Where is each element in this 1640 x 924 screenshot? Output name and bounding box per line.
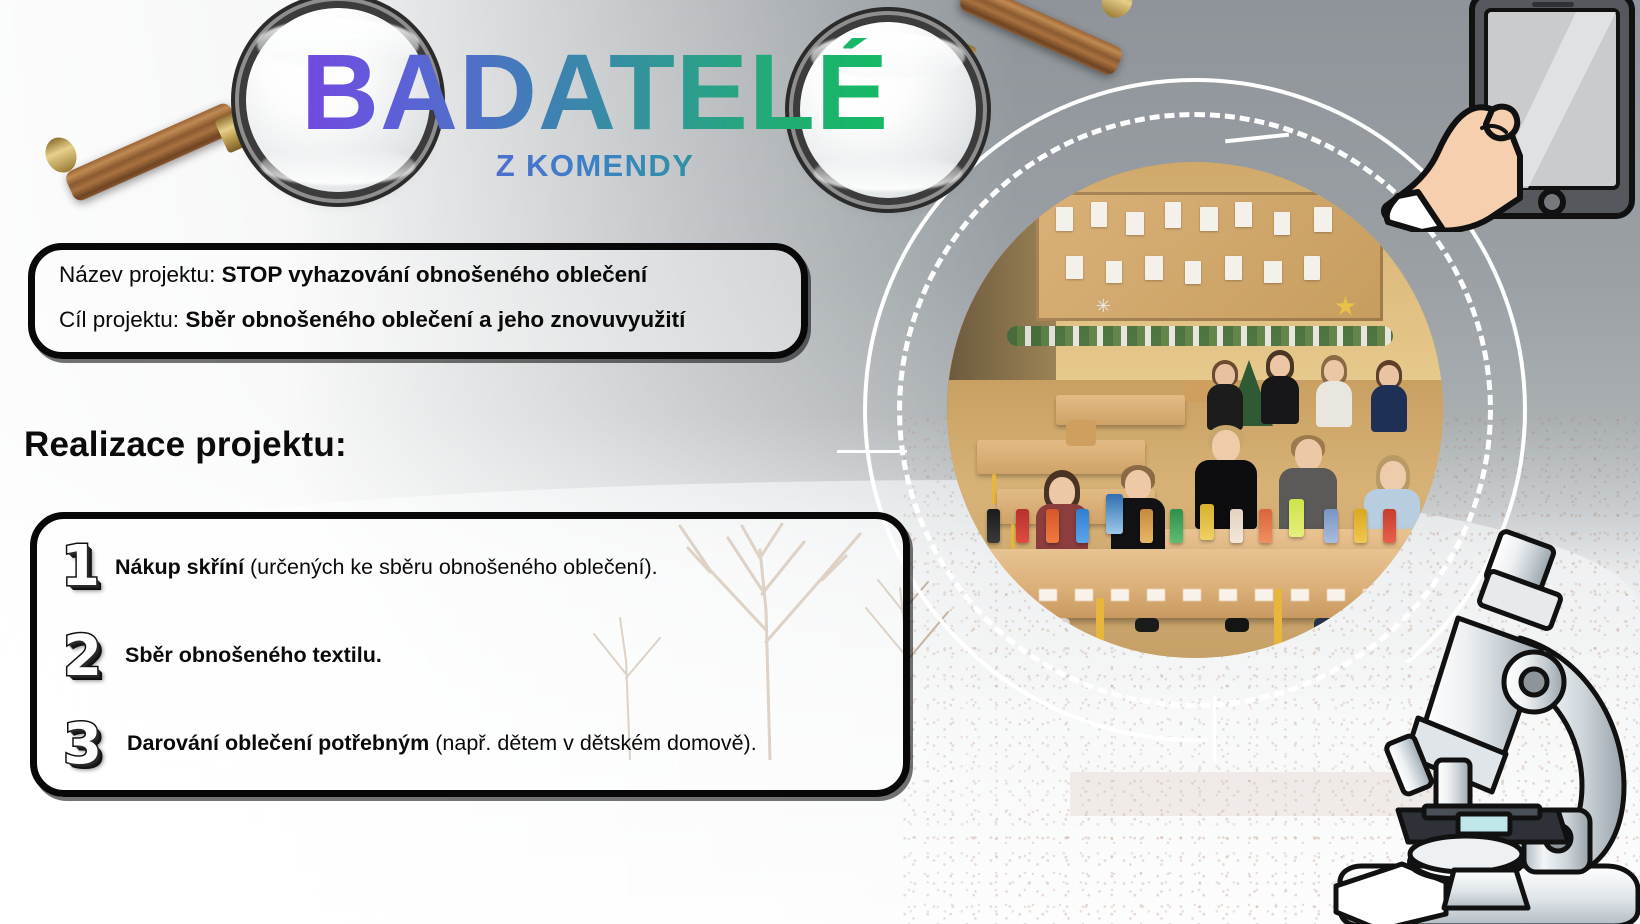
page-subtitle: Z KOMENDY	[265, 148, 925, 184]
step-number-1: 1	[61, 539, 119, 595]
list-item: 3 Darování oblečení potřebným (např. dět…	[63, 713, 885, 773]
section-heading: Realizace projektu:	[24, 425, 347, 465]
project-name-value: STOP vyhazování obnošeného oblečení	[222, 262, 648, 287]
project-info-box: Název projektu: STOP vyhazování obnošené…	[28, 243, 808, 359]
project-goal-label: Cíl projektu:	[59, 307, 185, 332]
project-name-row: Název projektu: STOP vyhazování obnošené…	[59, 264, 779, 287]
decorative-tick-horizontal	[837, 450, 907, 453]
step-text-1: Nákup skříní (určených ke sběru obnošené…	[115, 555, 658, 580]
step-rest-1: (určených ke sběru obnošeného oblečení).	[244, 555, 658, 579]
project-goal-value: Sběr obnošeného oblečení a jeho znovuvyu…	[185, 307, 685, 332]
project-steps-box: 1 Nákup skříní (určených ke sběru obnoše…	[30, 512, 910, 797]
decorative-tick-vertical	[1213, 696, 1216, 762]
page-title: BADATELÉ	[265, 38, 925, 146]
poster-canvas: ★ ✳	[0, 0, 1640, 924]
title-block: BADATELÉ Z KOMENDY	[265, 38, 925, 184]
step-text-2: Sběr obnošeného textilu.	[125, 643, 382, 668]
project-goal-row: Cíl projektu: Sběr obnošeného oblečení a…	[59, 309, 779, 332]
list-item: 1 Nákup skříní (určených ke sběru obnoše…	[63, 537, 885, 597]
project-name-label: Název projektu:	[59, 262, 222, 287]
step-bold-3: Darování oblečení potřebným	[127, 731, 429, 755]
step-bold-1: Nákup skříní	[115, 555, 244, 579]
microscope-icon	[1306, 510, 1640, 924]
step-bold-2: Sběr obnošeného textilu.	[125, 643, 382, 667]
list-item: 2 Sběr obnošeného textilu.	[63, 625, 885, 685]
tablet-in-hand-icon	[1314, 0, 1640, 232]
step-rest-3: (např. dětem v dětském domově).	[429, 731, 756, 755]
step-number-2: 2	[63, 629, 121, 685]
step-text-3: Darování oblečení potřebným (např. dětem…	[127, 731, 757, 756]
step-number-3: 3	[63, 717, 121, 773]
